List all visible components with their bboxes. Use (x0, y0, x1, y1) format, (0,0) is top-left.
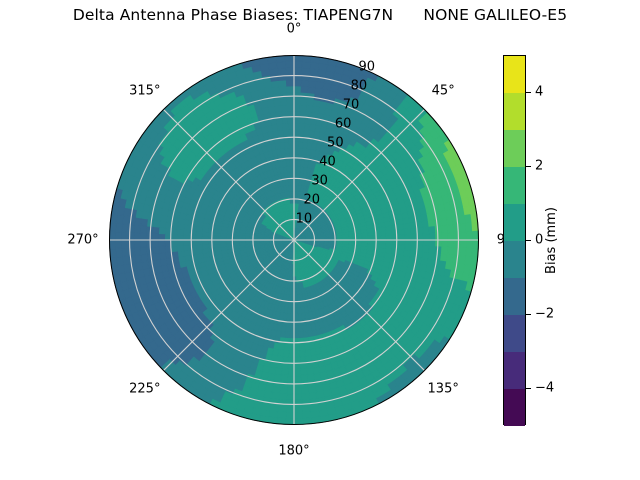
colorbar-band (504, 167, 525, 204)
azimuth-tick-180: 180° (278, 444, 309, 459)
colorbar-band (504, 315, 525, 352)
colorbar-tick-mark (526, 92, 531, 93)
colorbar-band (504, 204, 525, 241)
zenith-tick-30: 30 (311, 174, 328, 189)
colorbar-band (504, 93, 525, 130)
colorbar-band (504, 389, 525, 426)
colorbar-band (504, 241, 525, 278)
colorbar-tick-mark (526, 388, 531, 389)
zenith-tick-20: 20 (303, 193, 320, 208)
colorbar-band (504, 278, 525, 315)
polar-grid (109, 55, 479, 425)
colorbar-band (504, 352, 525, 389)
colorbar-band (504, 130, 525, 167)
azimuth-tick-270: 270° (67, 233, 98, 248)
polar-bias-figure: Delta Antenna Phase Biases: TIAPENG7N NO… (0, 0, 640, 480)
azimuth-tick-315: 315° (129, 83, 160, 98)
zenith-tick-70: 70 (343, 98, 360, 113)
colorbar-tick-mark (526, 166, 531, 167)
polar-axes[interactable]: 0°45°90135°180°225°270°315° 102030405060… (109, 55, 479, 425)
zenith-tick-80: 80 (351, 79, 368, 94)
colorbar-axis-label: Bias (mm) (541, 55, 561, 425)
zenith-tick-10: 10 (296, 212, 313, 227)
colorbar-tick-mark (526, 314, 531, 315)
colorbar-band (504, 56, 525, 93)
page-title: Delta Antenna Phase Biases: TIAPENG7N NO… (0, 6, 640, 24)
polar-contour-svg (109, 55, 479, 425)
polar-data-surface (109, 55, 479, 425)
zenith-tick-60: 60 (335, 117, 352, 132)
azimuth-tick-45: 45° (432, 83, 455, 98)
zenith-tick-40: 40 (319, 155, 336, 170)
azimuth-tick-0: 0° (287, 22, 302, 37)
zenith-tick-50: 50 (327, 136, 344, 151)
colorbar-label-text: Bias (mm) (544, 207, 559, 274)
colorbar[interactable]: −4−2024 (503, 55, 526, 425)
colorbar-gradient (503, 55, 526, 425)
zenith-tick-90: 90 (359, 60, 376, 75)
azimuth-tick-225: 225° (129, 382, 160, 397)
colorbar-tick-mark (526, 240, 531, 241)
azimuth-tick-135: 135° (428, 382, 459, 397)
